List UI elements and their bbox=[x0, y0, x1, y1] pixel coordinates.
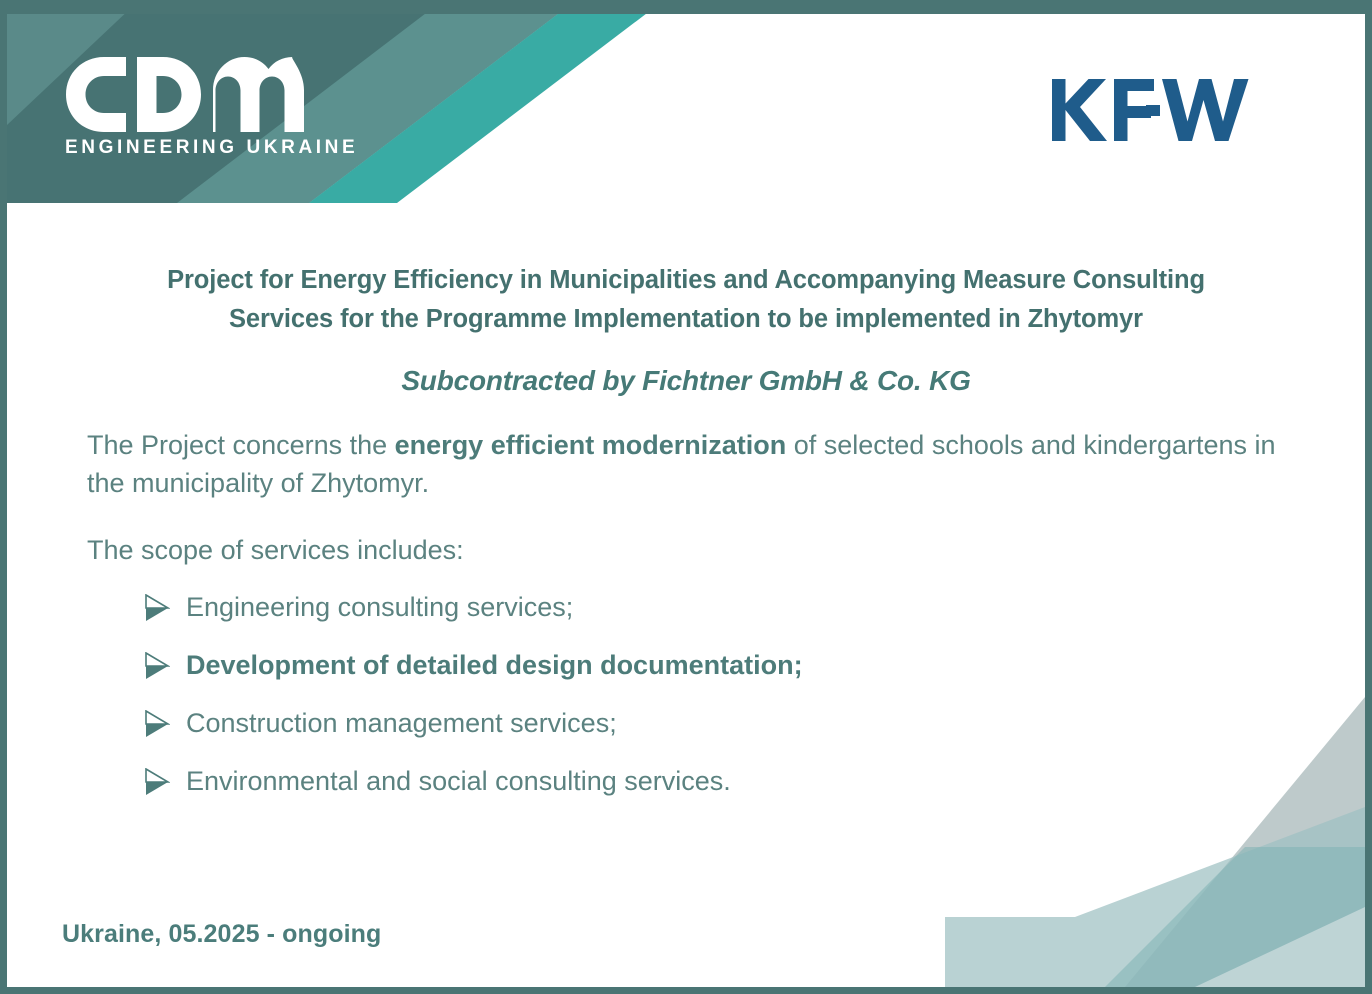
cdm-logo: ENGINEERING UKRAINE bbox=[65, 55, 325, 159]
kfw-logo bbox=[1050, 77, 1264, 143]
list-item: Engineering consulting services; bbox=[144, 591, 1285, 626]
list-item-label: Development of detailed design documenta… bbox=[186, 649, 803, 681]
list-item-label: Construction management services; bbox=[186, 707, 617, 739]
header-band: ENGINEERING UKRAINE bbox=[7, 7, 1365, 203]
scope-lead: The scope of services includes: bbox=[7, 503, 1365, 570]
arrowhead-bullet-icon bbox=[144, 768, 174, 800]
description-highlight: energy efficient modernization bbox=[395, 430, 787, 460]
kfw-wordmark-icon bbox=[1050, 77, 1264, 143]
footer-status: Ukraine, 05.2025 - ongoing bbox=[62, 920, 381, 949]
description-part-before: The Project concerns the bbox=[87, 430, 395, 460]
scope-list: Engineering consulting services; Develop… bbox=[7, 569, 1365, 800]
cdm-tagline: ENGINEERING UKRAINE bbox=[65, 137, 325, 159]
list-item: Construction management services; bbox=[144, 707, 1285, 742]
slide: ENGINEERING UKRAINE Project for Energy E bbox=[0, 0, 1372, 994]
cdm-wordmark-icon bbox=[65, 55, 309, 135]
header-top-border bbox=[7, 7, 1365, 14]
page-title: Project for Energy Efficiency in Municip… bbox=[7, 203, 1365, 339]
list-item-label: Environmental and social consulting serv… bbox=[186, 765, 731, 797]
subtitle: Subcontracted by Fichtner GmbH & Co. KG bbox=[7, 339, 1365, 397]
arrowhead-bullet-icon bbox=[144, 652, 174, 684]
list-item: Environmental and social consulting serv… bbox=[144, 765, 1285, 800]
slide-content: Project for Energy Efficiency in Municip… bbox=[7, 203, 1365, 987]
arrowhead-bullet-icon bbox=[144, 710, 174, 742]
list-item-label: Engineering consulting services; bbox=[186, 591, 573, 623]
list-item: Development of detailed design documenta… bbox=[144, 649, 1285, 684]
arrowhead-bullet-icon bbox=[144, 594, 174, 626]
project-description: The Project concerns the energy efficien… bbox=[7, 397, 1365, 503]
